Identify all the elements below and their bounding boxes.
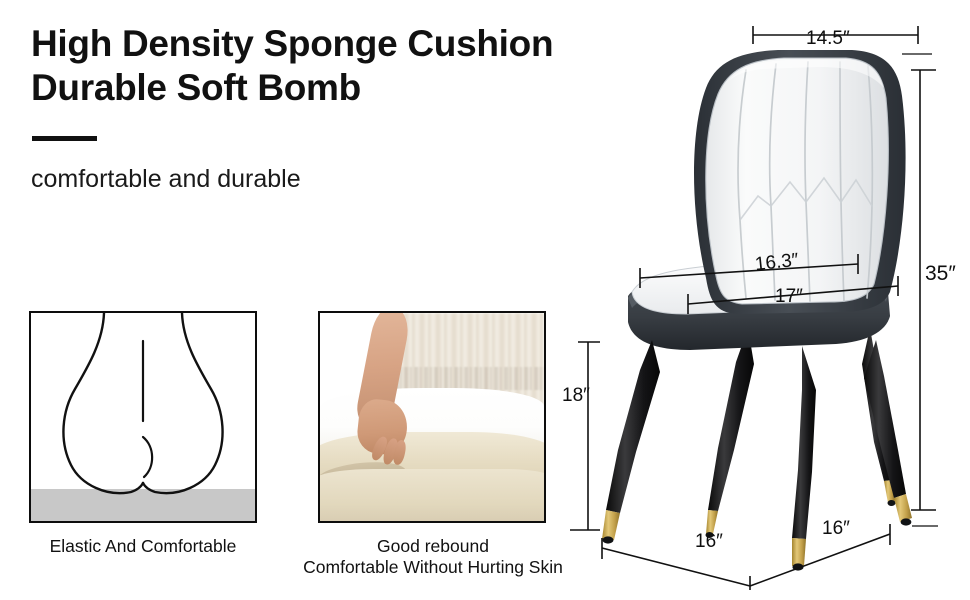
page-subtitle: comfortable and durable <box>31 164 301 194</box>
caption-elastic-comfort: Elastic And Comfortable <box>15 536 271 557</box>
dimension-label-overall-height: 35″ <box>925 262 956 286</box>
dimension-label-base-width: 16″ <box>822 518 850 540</box>
dimension-label-base-depth: 16″ <box>695 531 723 553</box>
dimension-label-backrest-width: 14.5″ <box>806 28 850 50</box>
curtain-hem <box>380 367 544 390</box>
dimension-label-seat-depth: 16.3″ <box>754 250 800 276</box>
chair-diagram <box>540 10 970 590</box>
headline-line-1: High Density Sponge Cushion <box>31 23 553 64</box>
title-divider <box>32 136 97 141</box>
seated-body-illustration <box>31 313 255 521</box>
panel-elastic-comfort <box>29 311 257 523</box>
panel-good-rebound <box>318 311 546 523</box>
dimension-label-seat-width: 17″ <box>775 286 803 308</box>
chair-illustration <box>540 10 970 590</box>
infographic-root: High Density Sponge Cushion Durable Soft… <box>0 0 970 600</box>
dimension-label-seat-height: 18″ <box>562 385 590 407</box>
foam-layer-lower <box>318 469 546 523</box>
foam-photo <box>320 313 544 521</box>
